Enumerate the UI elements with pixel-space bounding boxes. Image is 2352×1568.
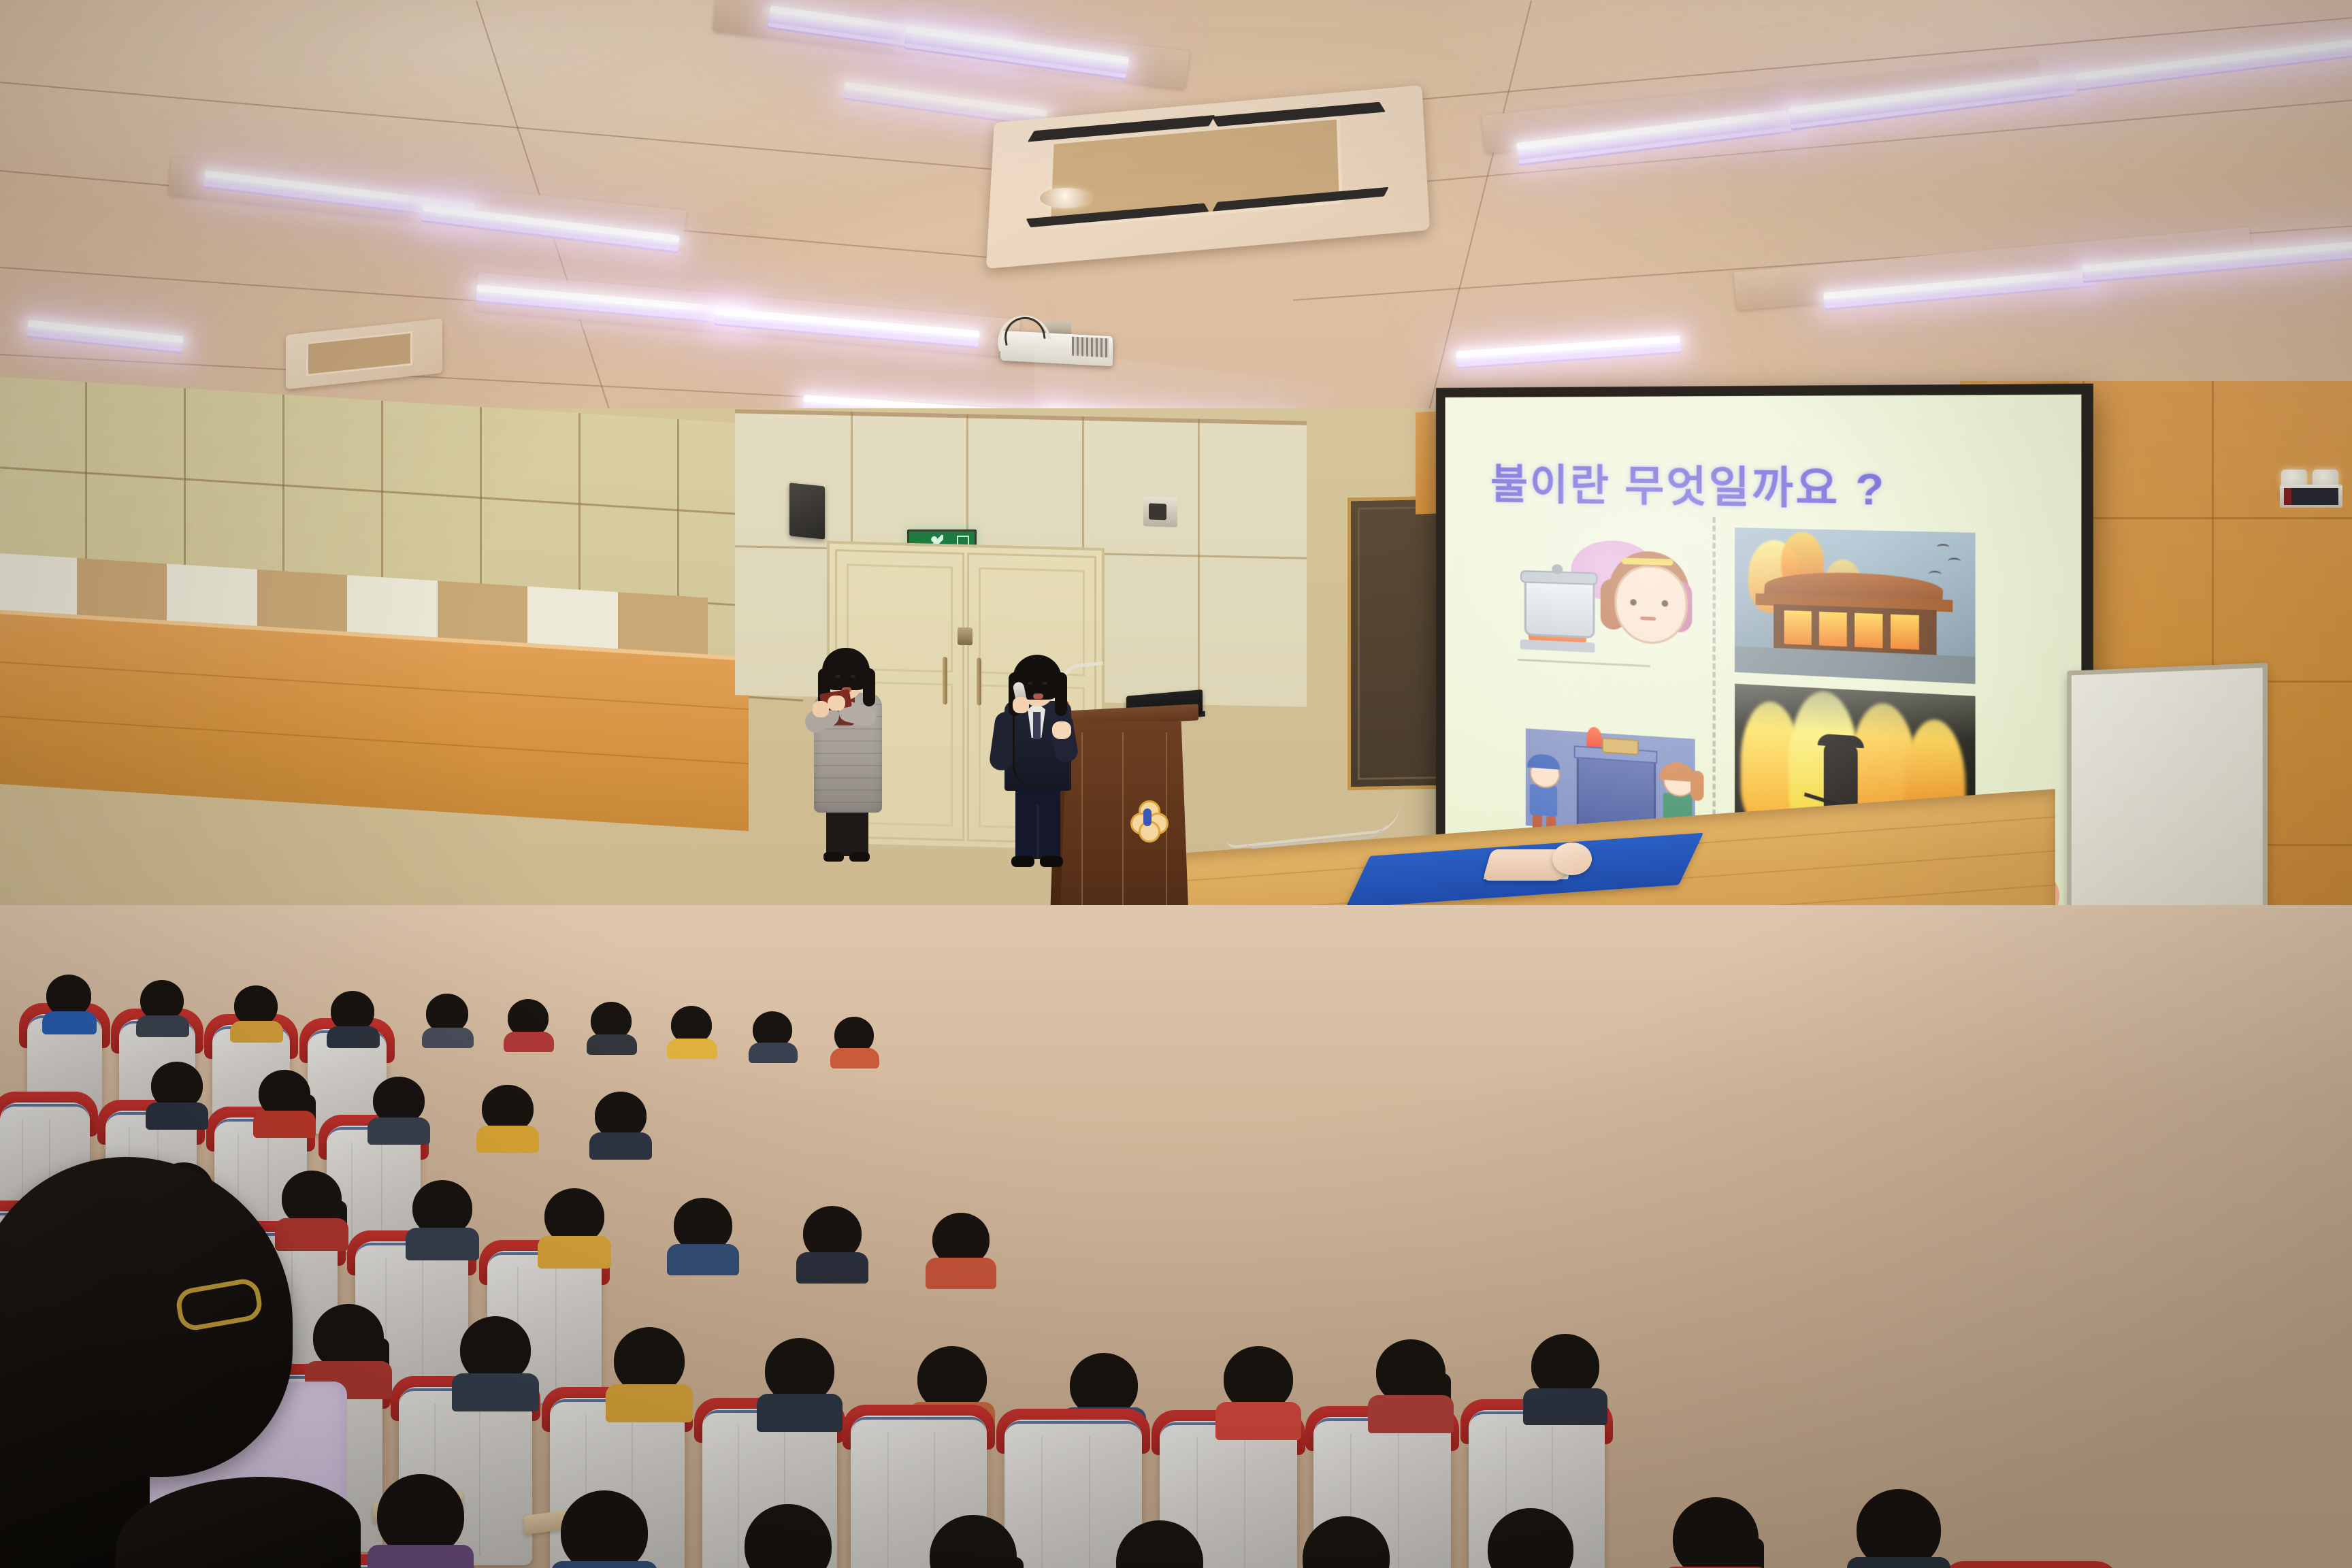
- emergency-light: [2280, 470, 2342, 508]
- student: [1368, 1339, 1454, 1424]
- student: [1663, 1497, 1768, 1568]
- student: [1107, 1520, 1213, 1568]
- student: [452, 1316, 539, 1402]
- student: [327, 991, 380, 1040]
- student: [422, 994, 474, 1041]
- student: [476, 1085, 539, 1143]
- student: [830, 1017, 879, 1062]
- student: [926, 1213, 996, 1281]
- ceiling-downlight: [1040, 188, 1090, 208]
- student: [667, 1198, 739, 1267]
- student: [1847, 1489, 1950, 1568]
- student: [367, 1474, 474, 1568]
- student: [735, 1504, 841, 1568]
- student: [367, 1077, 430, 1135]
- ceiling-projector: [1000, 321, 1113, 363]
- slide-illustration-stove-girl: [1518, 542, 1701, 683]
- wall-camera: [1143, 496, 1177, 527]
- student: [538, 1188, 611, 1259]
- student: [667, 1006, 717, 1052]
- student: [587, 1002, 637, 1048]
- student: [253, 1070, 316, 1128]
- student: [589, 1092, 652, 1150]
- student: [757, 1338, 843, 1422]
- door-lock[interactable]: [958, 627, 973, 646]
- student: [606, 1327, 693, 1413]
- student: [1523, 1334, 1607, 1417]
- slide-title: 불이란 무엇일까요 ?: [1490, 451, 1886, 519]
- auditorium-photo: 불이란 무엇일까요 ?: [0, 0, 2352, 1568]
- student: [920, 1515, 1026, 1568]
- student: [796, 1206, 868, 1275]
- wall-speaker: [789, 483, 825, 539]
- student: [146, 1062, 208, 1120]
- student: [551, 1490, 657, 1568]
- student: [1215, 1346, 1301, 1431]
- student: [136, 980, 189, 1029]
- student: [1293, 1516, 1399, 1568]
- student: [230, 985, 283, 1034]
- foreground-student: [0, 1157, 354, 1568]
- student: [749, 1011, 798, 1056]
- slide-photo-burning-building: [1735, 527, 1976, 684]
- student: [1478, 1508, 1583, 1568]
- student: [42, 975, 97, 1025]
- student: [504, 999, 554, 1045]
- student: [406, 1180, 479, 1251]
